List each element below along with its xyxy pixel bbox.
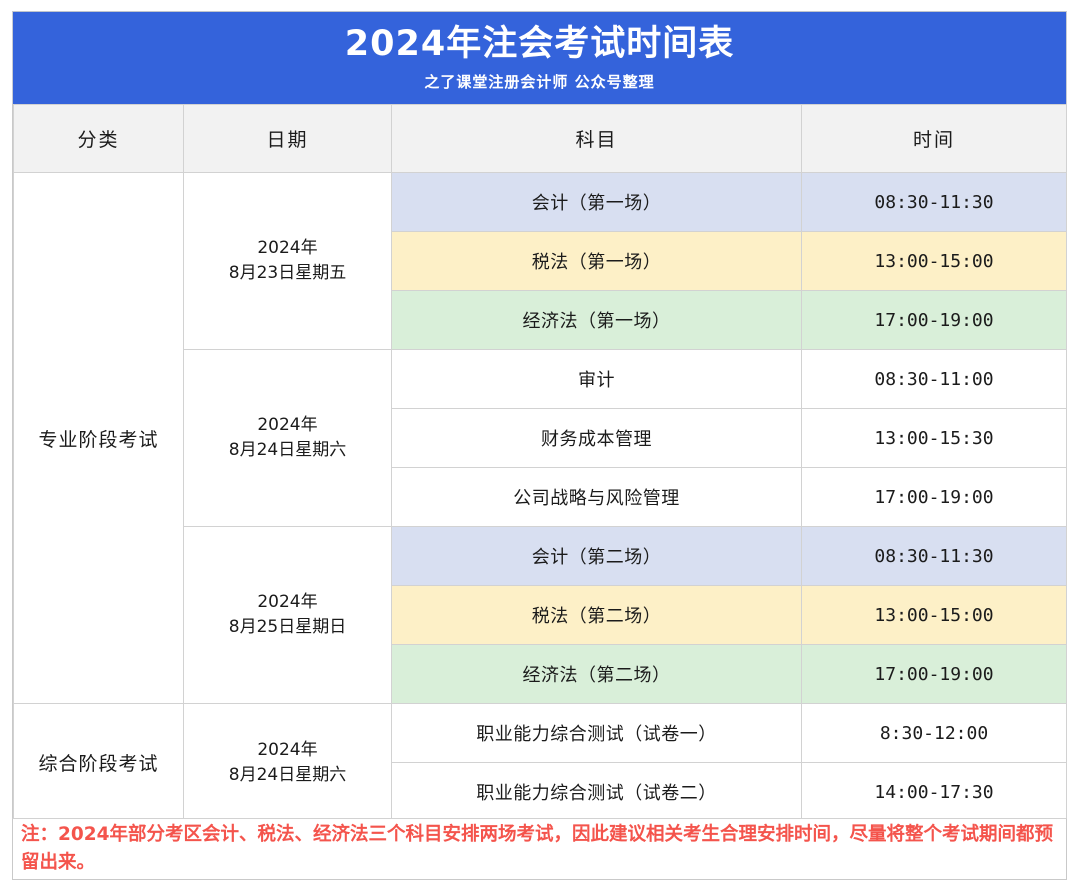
date-line-day: 8月24日星期六 [184, 763, 391, 788]
subject-cell: 税法（第二场） [392, 586, 802, 645]
date-line-year: 2024年 [184, 236, 391, 261]
date-cell-aug-24: 2024年 8月24日星期六 [184, 350, 392, 527]
time-cell: 08:30-11:30 [802, 173, 1067, 232]
table-header: 分类 日期 科目 时间 [14, 105, 1067, 173]
schedule-table-wrapper: 分类 日期 科目 时间 专业阶段考试 2024年 8月23日星期五 会计（第一场… [12, 104, 1067, 823]
date-cell-aug-23: 2024年 8月23日星期五 [184, 173, 392, 350]
column-header-time: 时间 [802, 105, 1067, 173]
subject-cell: 职业能力综合测试（试卷一） [392, 704, 802, 763]
time-cell: 13:00-15:00 [802, 586, 1067, 645]
date-cell-aug-24-comprehensive: 2024年 8月24日星期六 [184, 704, 392, 822]
subject-cell: 税法（第一场） [392, 232, 802, 291]
date-line-day: 8月25日星期日 [184, 615, 391, 640]
subject-cell: 经济法（第二场） [392, 645, 802, 704]
column-header-date: 日期 [184, 105, 392, 173]
time-cell: 08:30-11:00 [802, 350, 1067, 409]
date-line-year: 2024年 [184, 413, 391, 438]
subject-cell: 公司战略与风险管理 [392, 468, 802, 527]
time-cell: 13:00-15:00 [802, 232, 1067, 291]
subject-cell: 职业能力综合测试（试卷二） [392, 763, 802, 822]
time-cell: 17:00-19:00 [802, 468, 1067, 527]
date-line-year: 2024年 [184, 590, 391, 615]
subject-cell: 会计（第一场） [392, 173, 802, 232]
table-body: 专业阶段考试 2024年 8月23日星期五 会计（第一场） 08:30-11:3… [14, 173, 1067, 822]
subject-cell: 会计（第二场） [392, 527, 802, 586]
category-cell-comprehensive-stage: 综合阶段考试 [14, 704, 184, 822]
date-line-year: 2024年 [184, 738, 391, 763]
column-header-subject: 科目 [392, 105, 802, 173]
table-header-row: 分类 日期 科目 时间 [14, 105, 1067, 173]
exam-schedule-page: 2024年注会考试时间表 之了课堂注册会计师 公众号整理 分类 日期 科目 时间 [0, 0, 1080, 888]
title-banner: 2024年注会考试时间表 之了课堂注册会计师 公众号整理 [12, 11, 1067, 104]
time-cell: 08:30-11:30 [802, 527, 1067, 586]
footer-note: 注：2024年部分考区会计、税法、经济法三个科目安排两场考试，因此建议相关考生合… [12, 818, 1067, 880]
time-cell: 17:00-19:00 [802, 645, 1067, 704]
page-title: 2024年注会考试时间表 [345, 24, 734, 64]
subject-cell: 财务成本管理 [392, 409, 802, 468]
category-cell-professional-stage: 专业阶段考试 [14, 173, 184, 704]
date-line-day: 8月24日星期六 [184, 438, 391, 463]
date-cell-aug-25: 2024年 8月25日星期日 [184, 527, 392, 704]
time-cell: 8:30-12:00 [802, 704, 1067, 763]
time-cell: 17:00-19:00 [802, 291, 1067, 350]
schedule-table: 分类 日期 科目 时间 专业阶段考试 2024年 8月23日星期五 会计（第一场… [13, 104, 1067, 822]
footer-note-text: 注：2024年部分考区会计、税法、经济法三个科目安排两场考试，因此建议相关考生合… [13, 821, 1066, 877]
subject-cell: 审计 [392, 350, 802, 409]
table-row: 综合阶段考试 2024年 8月24日星期六 职业能力综合测试（试卷一） 8:30… [14, 704, 1067, 763]
column-header-category: 分类 [14, 105, 184, 173]
subject-cell: 经济法（第一场） [392, 291, 802, 350]
table-row: 专业阶段考试 2024年 8月23日星期五 会计（第一场） 08:30-11:3… [14, 173, 1067, 232]
time-cell: 13:00-15:30 [802, 409, 1067, 468]
date-line-day: 8月23日星期五 [184, 261, 391, 286]
page-subtitle: 之了课堂注册会计师 公众号整理 [424, 71, 654, 92]
time-cell: 14:00-17:30 [802, 763, 1067, 822]
